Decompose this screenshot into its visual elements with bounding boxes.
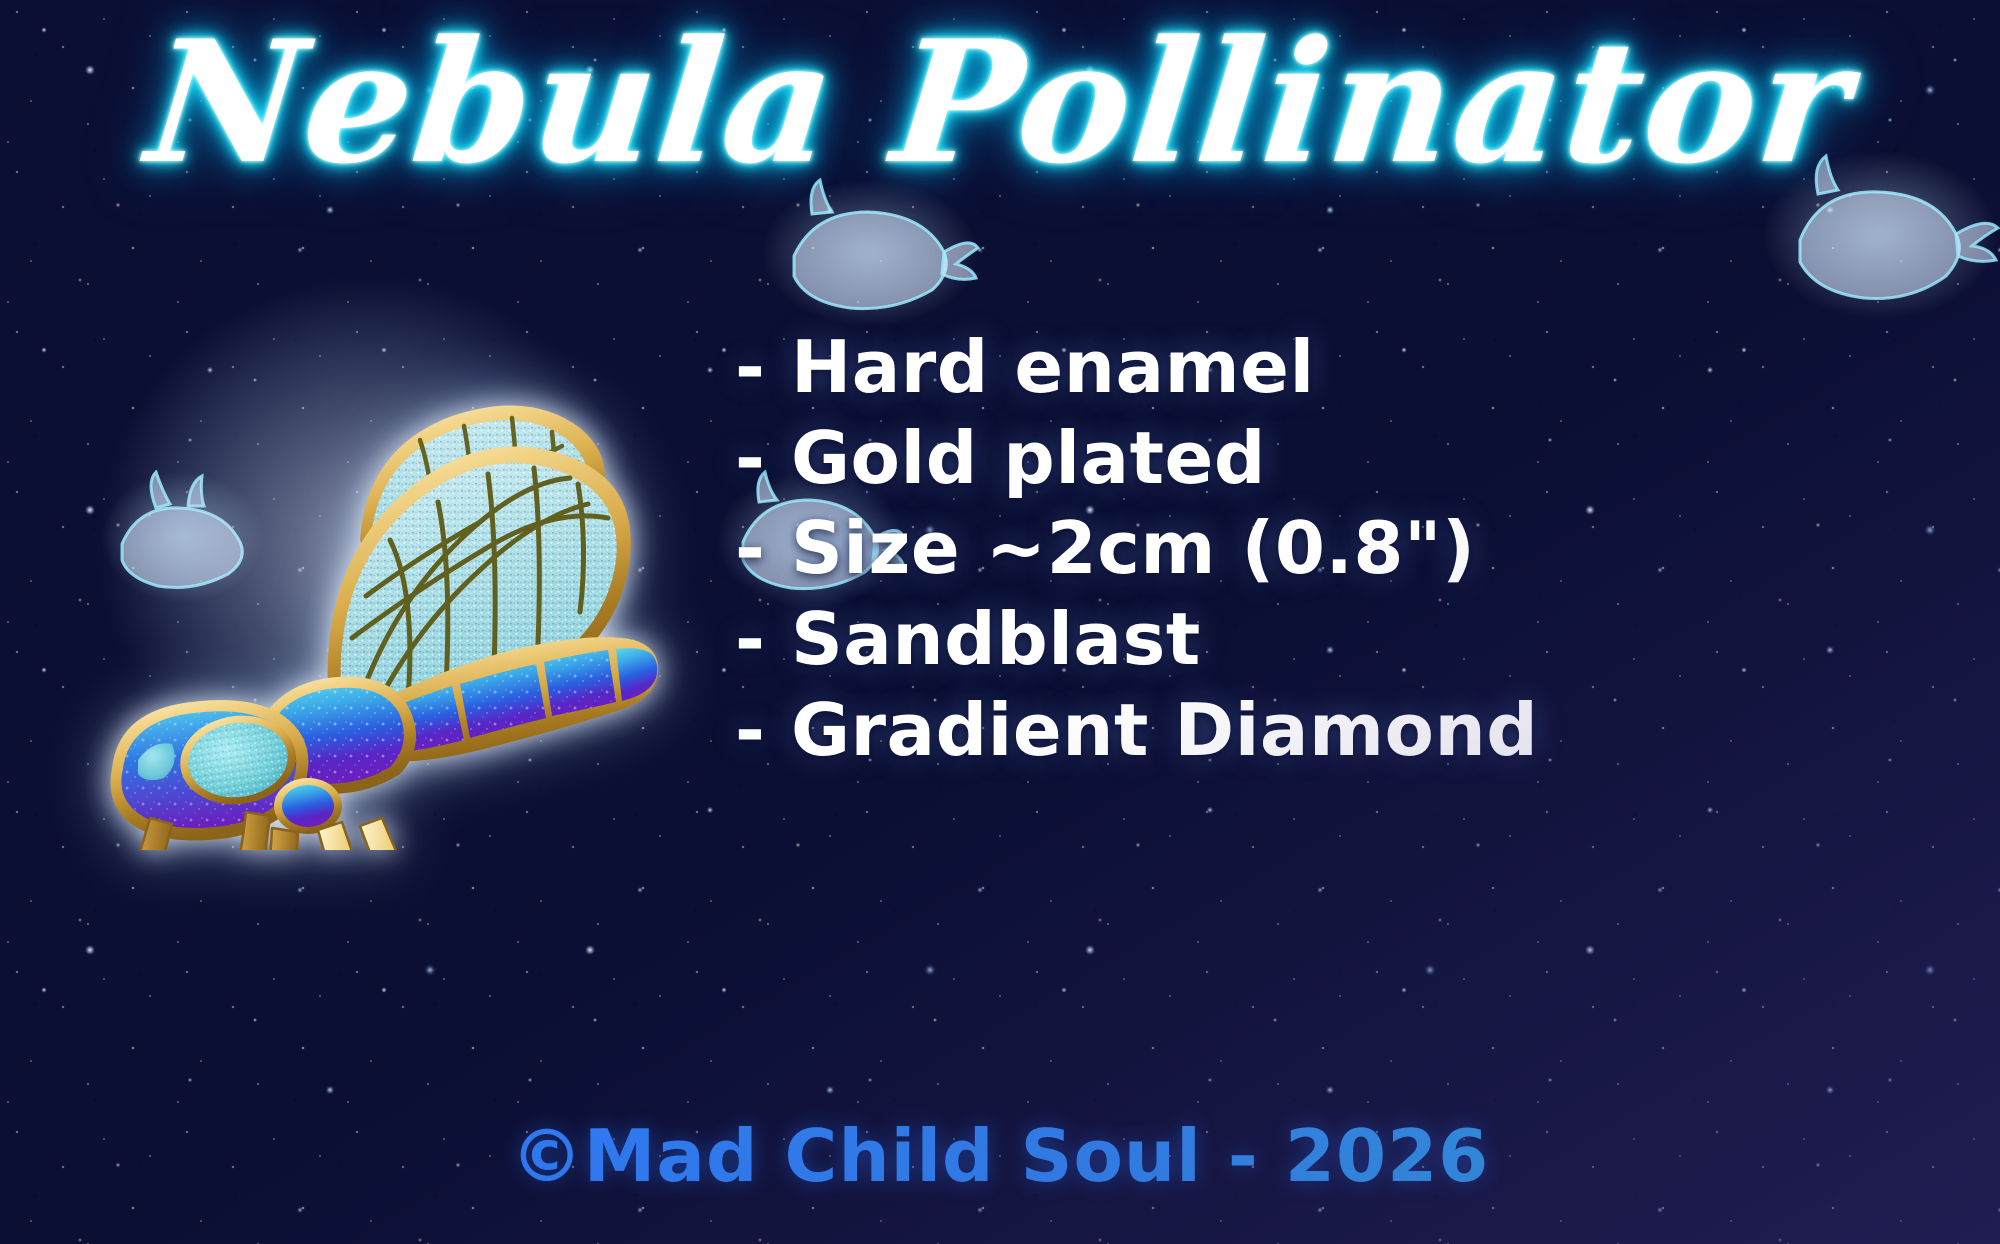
spec-item-gradient-diamond: - Gradient Diamond <box>735 685 1985 776</box>
spec-item-sandblast: - Sandblast <box>735 594 1985 685</box>
spec-item-gold-plated: - Gold plated <box>735 413 1985 504</box>
page-title: Nebula Pollinator <box>0 14 2000 190</box>
spec-item-hard-enamel: - Hard enamel <box>735 322 1985 413</box>
spec-list: - Hard enamel - Gold plated - Size ~2cm … <box>735 322 1985 776</box>
spec-item-size: - Size ~2cm (0.8") <box>735 503 1985 594</box>
pin-product-card: Nebula Pollinator - Hard enamel - Gold p… <box>0 0 2000 1244</box>
copyright-credit: ©Mad Child Soul - 2026 <box>0 1114 2000 1198</box>
dragonfly-enamel-pin-illustration <box>60 240 680 850</box>
